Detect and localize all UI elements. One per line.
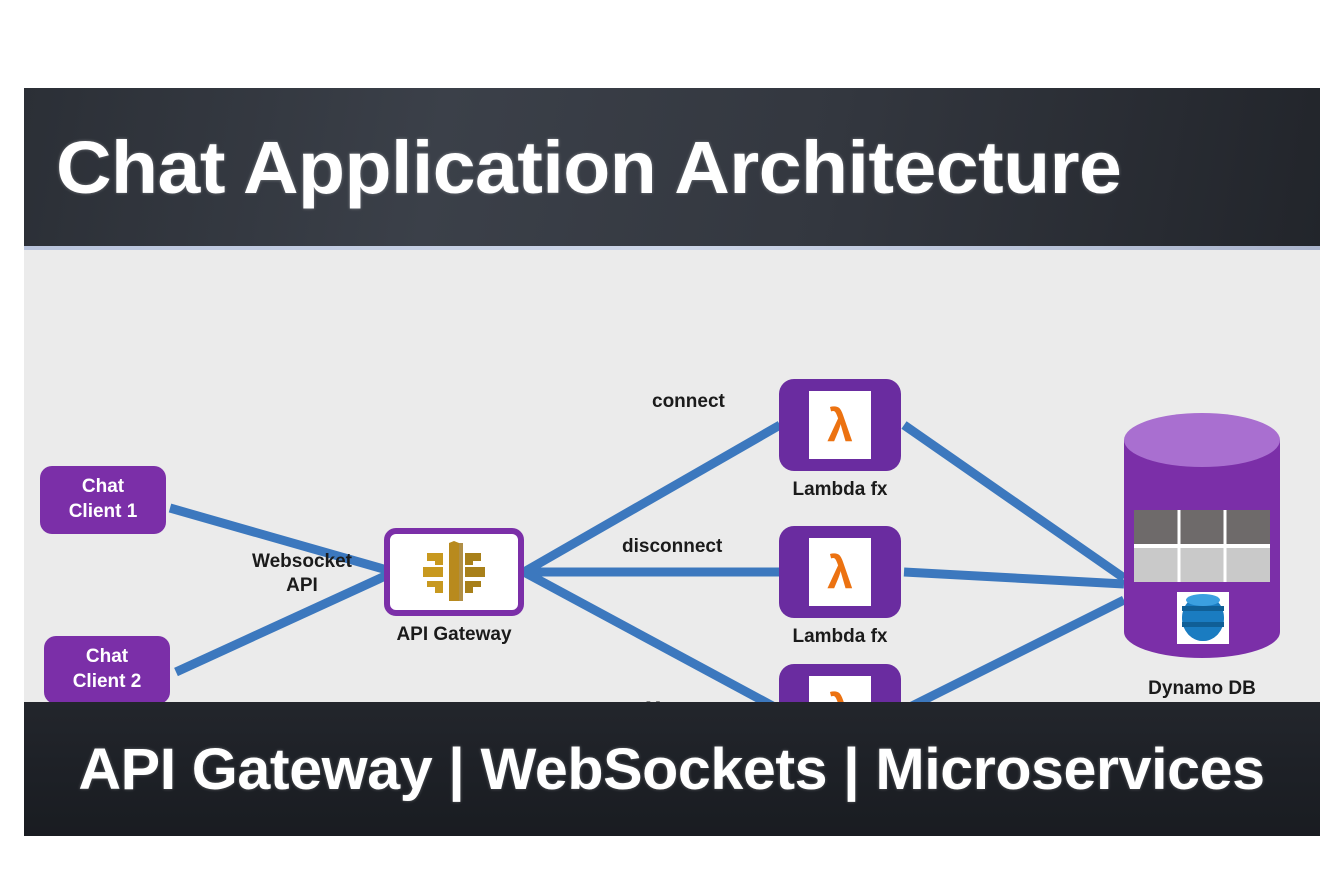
websocket-label-line2: API [242, 574, 362, 598]
api-gateway-box[interactable] [384, 528, 524, 616]
edge-lambda-disconnect-dynamo [904, 572, 1124, 584]
edge-label-connect: connect [652, 390, 725, 414]
chat-client-2-box[interactable]: Chat Client 2 [44, 636, 170, 704]
edge-label-disconnect: disconnect [622, 535, 722, 559]
lambda-connect-box[interactable]: λ [779, 379, 901, 471]
websocket-label-line1: Websocket [242, 550, 362, 574]
node-lambda-connect[interactable]: λ Lambda fx [779, 379, 901, 471]
lambda-disconnect-label: Lambda fx [779, 626, 901, 648]
footer-banner: API Gateway | WebSockets | Microservices [24, 702, 1320, 836]
diagram-canvas: Chat Client 1 Chat Client 2 Websocket AP… [24, 250, 1320, 702]
edge-gateway-lambda-onmessage [524, 572, 780, 702]
chat-client-1-line2: Client 1 [69, 500, 138, 525]
lambda-icon: λ [827, 549, 853, 595]
footer-tagline: API Gateway | WebSockets | Microservices [79, 736, 1265, 803]
node-chat-client-2[interactable]: Chat Client 2 [44, 636, 170, 704]
lambda-connect-label: Lambda fx [779, 479, 901, 501]
chat-client-2-line1: Chat [86, 645, 128, 670]
dynamodb-icon [1182, 594, 1224, 641]
node-chat-client-1[interactable]: Chat Client 1 [40, 466, 166, 534]
lambda-connect-icon-plate: λ [809, 391, 871, 459]
dynamo-db-label: Dynamo DB [1122, 678, 1282, 700]
chat-client-1-line1: Chat [82, 475, 124, 500]
chat-client-2-line2: Client 2 [73, 670, 142, 695]
page-title: Chat Application Architecture [56, 125, 1121, 210]
edge-lambda-connect-dynamo [904, 425, 1124, 578]
title-banner: Chat Application Architecture [24, 88, 1320, 246]
api-gateway-label: API Gateway [384, 624, 524, 646]
node-lambda-disconnect[interactable]: λ Lambda fx [779, 526, 901, 618]
edge-label-websocket-api: Websocket API [242, 550, 362, 599]
edge-lambda-onmessage-dynamo [904, 600, 1124, 702]
architecture-slide: Chat Application Architecture Chat Clie [24, 88, 1320, 836]
aws-api-gateway-icon [421, 541, 487, 603]
lambda-icon: λ [827, 402, 853, 448]
node-dynamo-db[interactable]: Dynamo DB [1122, 410, 1282, 675]
lambda-disconnect-icon-plate: λ [809, 538, 871, 606]
chat-client-1-box[interactable]: Chat Client 1 [40, 466, 166, 534]
dynamo-db-cylinder[interactable] [1122, 410, 1282, 670]
lambda-disconnect-box[interactable]: λ [779, 526, 901, 618]
node-api-gateway[interactable]: API Gateway [384, 528, 524, 616]
